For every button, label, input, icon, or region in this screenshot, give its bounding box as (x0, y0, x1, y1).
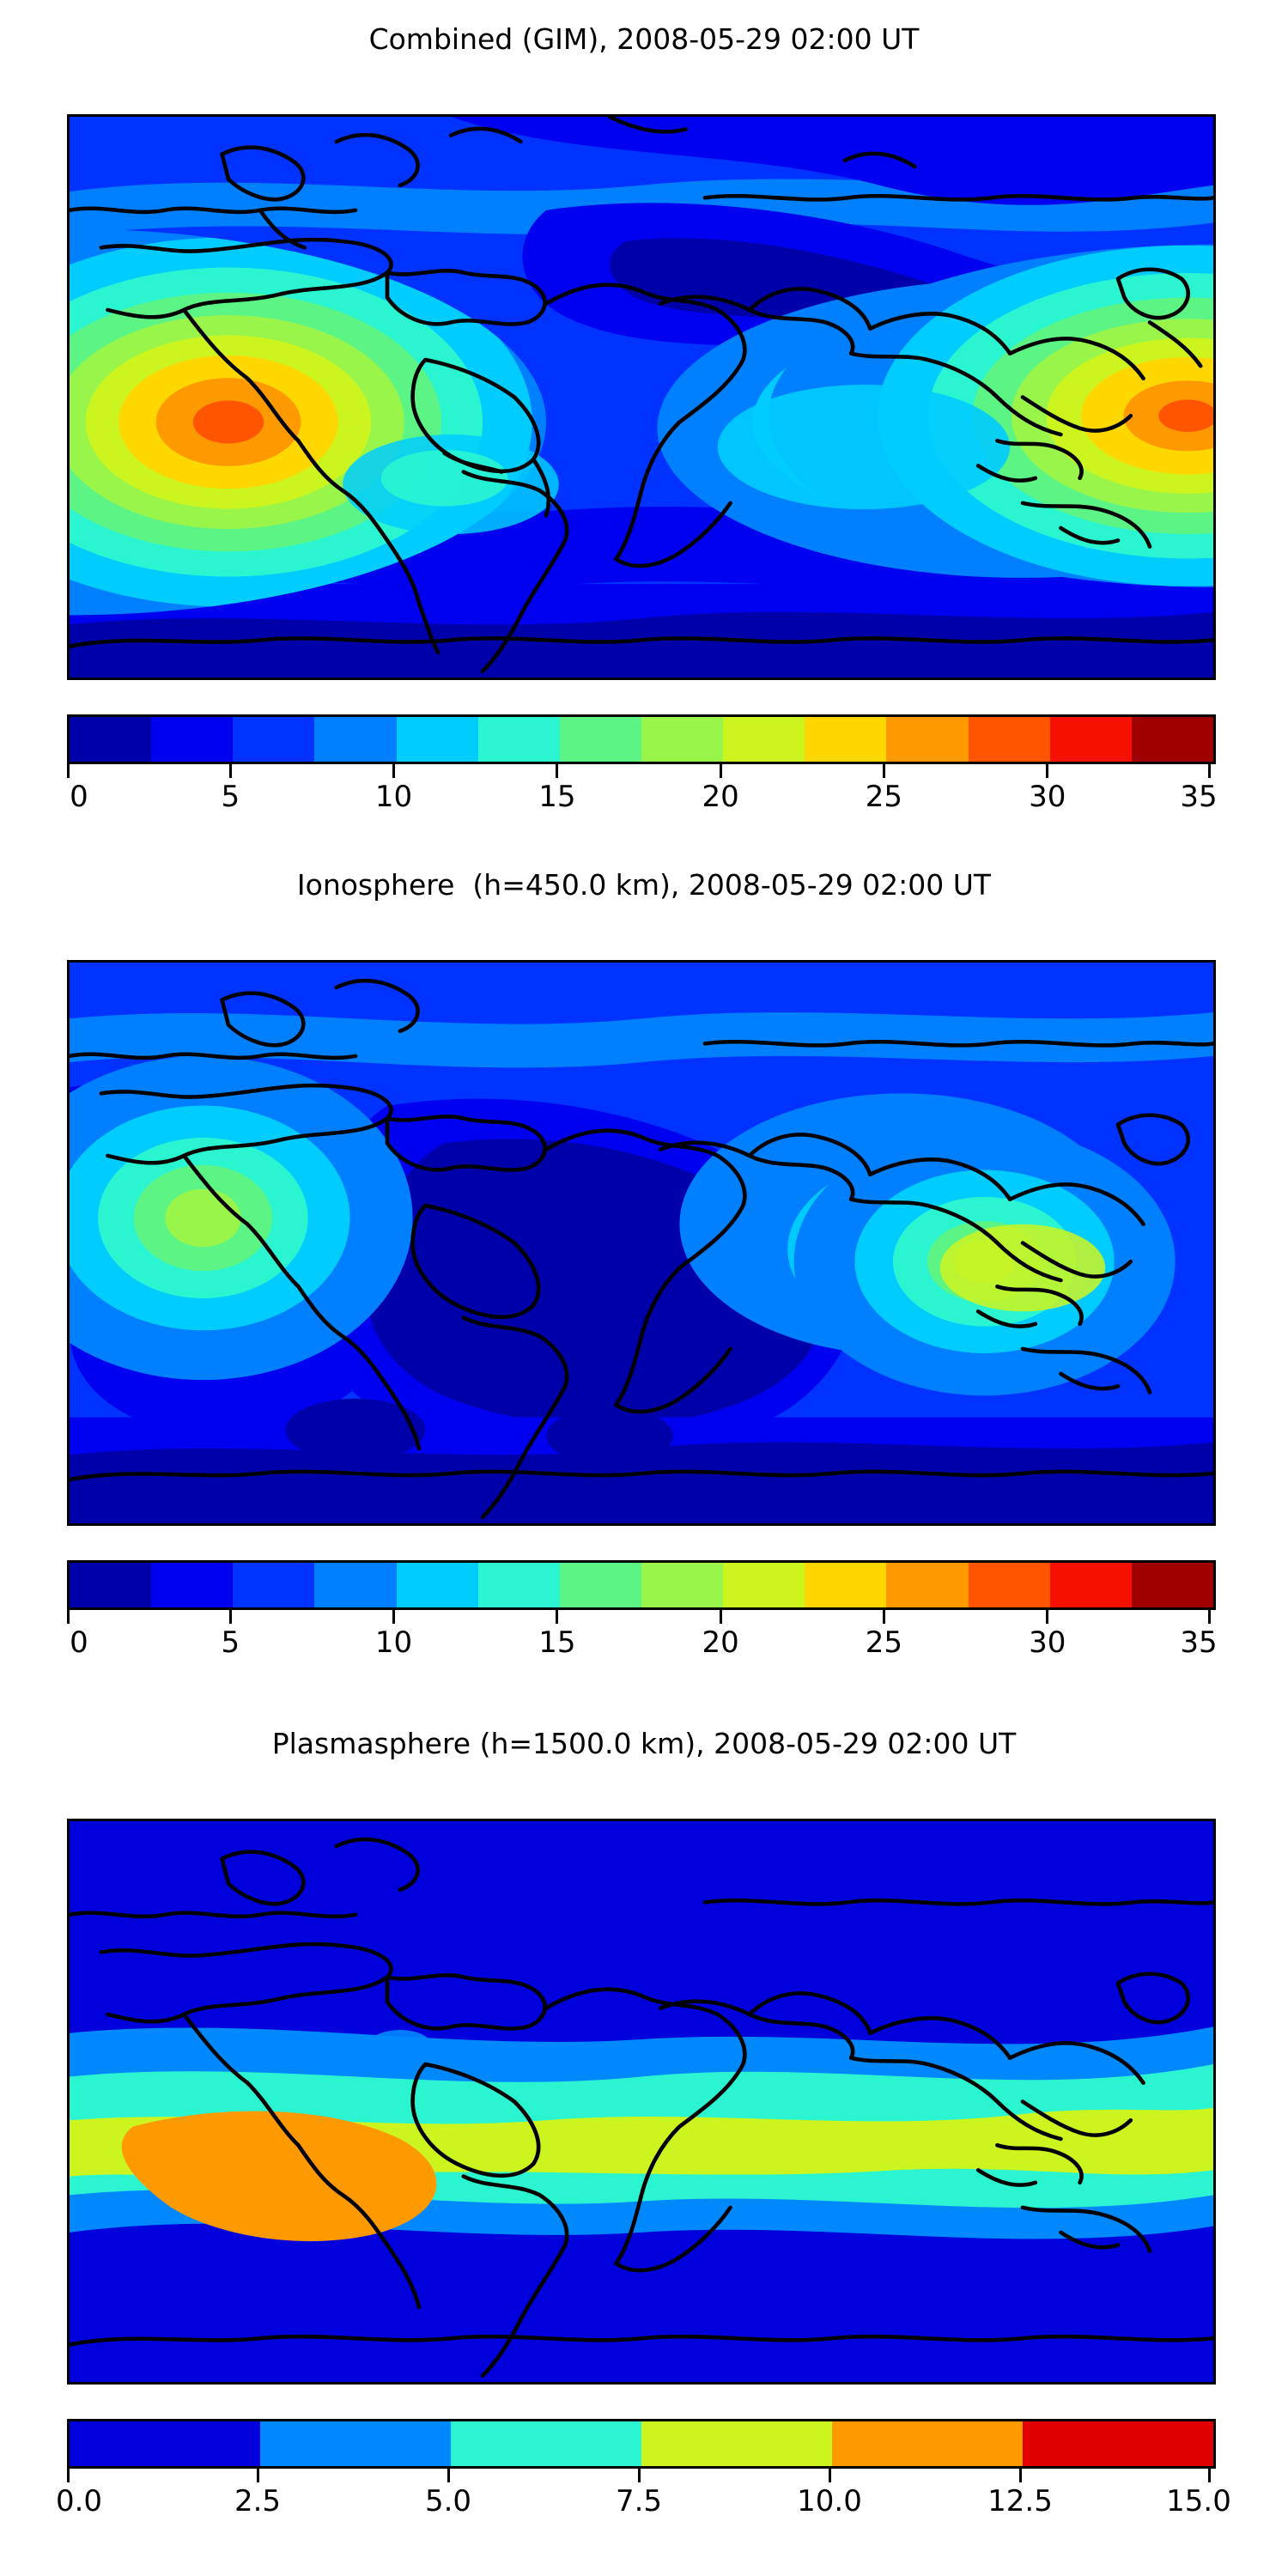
colorbar-band-12 (1050, 1563, 1132, 1607)
colorbar-tick-6 (1046, 1610, 1048, 1624)
colorbar-band-8 (723, 1563, 805, 1607)
colorbar-tick-label-5: 25 (866, 780, 902, 814)
colorbar-band-0 (70, 2421, 260, 2466)
panel-plasmasphere: Plasmasphere (h=1500.0 km), 2008-05-29 0… (0, 1704, 1288, 2576)
panel-combined: Combined (GIM), 2008-05-29 02:00 UT (0, 0, 1288, 859)
colorbar-band-2 (233, 1563, 314, 1607)
colorbar-tick-label-3: 15 (538, 1625, 575, 1660)
colorbar-tick-5 (883, 1610, 885, 1624)
colorbar-tick-label-7: 35 (1180, 780, 1217, 814)
colorbar-band-11 (969, 1563, 1050, 1607)
tec-figure: Combined (GIM), 2008-05-29 02:00 UT (0, 0, 1288, 2576)
colorbar-band-4 (397, 717, 478, 762)
colorbar-tick-label-0: 0 (70, 780, 88, 814)
colorbar-tick-label-2: 5.0 (425, 2484, 471, 2518)
colorbar-tick-label-0: 0 (70, 1625, 88, 1660)
colorbar-tick-6 (1208, 2469, 1211, 2482)
map-ionosphere (67, 960, 1216, 1526)
colorbar-tick-label-3: 7.5 (616, 2484, 662, 2518)
colorbar-tick-label-7: 35 (1180, 1625, 1217, 1660)
colorbar-tick-label-5: 12.5 (987, 2484, 1053, 2518)
colorbar-band-6 (560, 717, 641, 762)
colorbar-labels-plasmasphere: 0.02.55.07.510.012.515.0 (67, 2484, 1211, 2524)
colorbar-band-4 (397, 1563, 478, 1607)
map-svg-combined (70, 117, 1213, 677)
colorbar-band-3 (314, 717, 396, 762)
colorbar-combined: 05101520253035 (67, 714, 1211, 826)
colorbar-band-1 (151, 717, 233, 762)
colorbar-tick-label-2: 10 (375, 1625, 412, 1660)
colorbar-tick-4 (720, 1610, 722, 1624)
colorbar-tick-3 (556, 1610, 558, 1624)
colorbar-band-13 (1132, 717, 1213, 762)
colorbar-tick-2 (392, 764, 395, 778)
colorbar-tick-5 (883, 764, 885, 778)
colorbar-tick-7 (1208, 764, 1211, 778)
colorbar-tick-3 (638, 2469, 641, 2482)
colorbar-band-7 (641, 1563, 723, 1607)
colorbar-tick-1 (257, 2469, 259, 2482)
colorbar-band-6 (560, 1563, 641, 1607)
colorbar-band-5 (478, 717, 560, 762)
colorbar-tick-4 (720, 764, 722, 778)
colorbar-strip-plasmasphere (67, 2419, 1216, 2469)
panel-title-plasmasphere: Plasmasphere (h=1500.0 km), 2008-05-29 0… (0, 1727, 1288, 1760)
colorbar-band-13 (1132, 1563, 1213, 1607)
colorbar-tick-label-6: 30 (1029, 1625, 1066, 1660)
colorbar-tick-label-4: 10.0 (797, 2484, 862, 2518)
colorbar-band-5 (1023, 2421, 1213, 2466)
colorbar-plasmasphere: 0.02.55.07.510.012.515.0 (67, 2419, 1211, 2539)
colorbar-band-2 (233, 717, 314, 762)
colorbar-band-1 (260, 2421, 451, 2466)
colorbar-band-9 (805, 717, 886, 762)
colorbar-tick-0 (67, 2469, 70, 2482)
colorbar-tick-5 (1019, 2469, 1022, 2482)
colorbar-band-3 (314, 1563, 396, 1607)
panel-ionosphere: Ionosphere (h=450.0 km), 2008-05-29 02:0… (0, 846, 1288, 1704)
colorbar-band-2 (451, 2421, 641, 2466)
colorbar-tick-4 (829, 2469, 831, 2482)
colorbar-tick-3 (556, 764, 558, 778)
colorbar-strip-combined (67, 714, 1216, 764)
panel-title-ionosphere: Ionosphere (h=450.0 km), 2008-05-29 02:0… (0, 868, 1288, 902)
colorbar-band-1 (151, 1563, 233, 1607)
colorbar-tick-label-1: 5 (221, 780, 240, 814)
colorbar-tick-1 (229, 764, 232, 778)
colorbar-strip-ionosphere (67, 1560, 1216, 1610)
colorbar-tick-6 (1046, 764, 1048, 778)
colorbar-labels-ionosphere: 05101520253035 (67, 1625, 1211, 1665)
colorbar-band-9 (805, 1563, 886, 1607)
colorbar-band-8 (723, 717, 805, 762)
colorbar-band-4 (832, 2421, 1023, 2466)
map-combined (67, 114, 1216, 680)
colorbar-band-11 (969, 717, 1050, 762)
colorbar-tick-label-4: 20 (702, 1625, 739, 1660)
colorbar-labels-combined: 05101520253035 (67, 780, 1211, 819)
colorbar-band-0 (70, 717, 151, 762)
map-svg-plasmasphere (70, 1821, 1213, 2382)
map-plasmasphere (67, 1819, 1216, 2385)
panel-title-combined: Combined (GIM), 2008-05-29 02:00 UT (0, 22, 1288, 56)
colorbar-tick-label-3: 15 (538, 780, 575, 814)
colorbar-tick-0 (67, 1610, 70, 1624)
map-svg-ionosphere (70, 963, 1213, 1523)
colorbar-tick-2 (392, 1610, 395, 1624)
colorbar-tick-2 (447, 2469, 450, 2482)
colorbar-tick-label-0: 0.0 (56, 2484, 102, 2518)
colorbar-ionosphere: 05101520253035 (67, 1560, 1211, 1672)
colorbar-tick-0 (67, 764, 70, 778)
colorbar-tick-label-6: 30 (1029, 780, 1066, 814)
colorbar-band-12 (1050, 717, 1132, 762)
colorbar-band-10 (886, 717, 968, 762)
colorbar-band-3 (641, 2421, 832, 2466)
colorbar-tick-label-1: 5 (221, 1625, 240, 1660)
colorbar-tick-label-5: 25 (866, 1625, 902, 1660)
colorbar-tick-7 (1208, 1610, 1211, 1624)
colorbar-tick-label-4: 20 (702, 780, 739, 814)
colorbar-tick-label-2: 10 (375, 780, 412, 814)
colorbar-tick-label-6: 15.0 (1166, 2484, 1231, 2518)
colorbar-band-7 (641, 717, 723, 762)
colorbar-tick-label-1: 2.5 (234, 2484, 281, 2518)
colorbar-band-5 (478, 1563, 560, 1607)
colorbar-tick-1 (229, 1610, 232, 1624)
colorbar-band-10 (886, 1563, 968, 1607)
colorbar-band-0 (70, 1563, 151, 1607)
